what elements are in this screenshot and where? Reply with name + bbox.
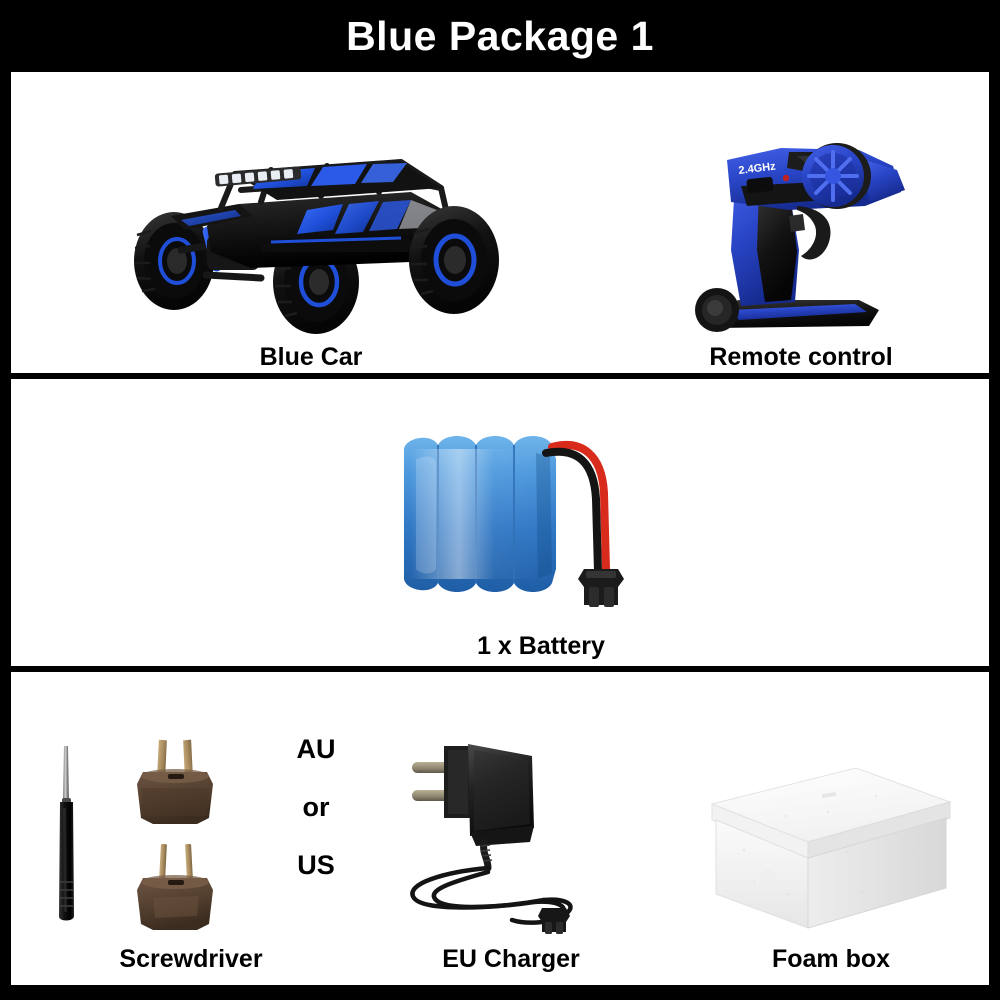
panel-top: Blue Car bbox=[11, 72, 989, 373]
foam-box-icon bbox=[696, 732, 966, 947]
panel-bottom: Screwdriver AU or US bbox=[11, 672, 989, 985]
caption-screwdriver: Screwdriver bbox=[119, 947, 262, 972]
adapter-label-or: or bbox=[283, 792, 349, 823]
item-screwdriver: Screwdriver bbox=[31, 682, 351, 972]
adapter-label-au: AU bbox=[283, 734, 349, 765]
au-plug-adapter bbox=[137, 740, 213, 824]
product-package-image: Blue Package 1 bbox=[0, 0, 1000, 1000]
item-eu-charger: EU Charger bbox=[366, 682, 656, 972]
item-remote-control: 2.4GHz bbox=[631, 80, 971, 370]
rc-car-icon bbox=[111, 130, 511, 345]
battery-pack-icon bbox=[386, 419, 696, 634]
caption-eu-charger: EU Charger bbox=[442, 947, 580, 972]
caption-blue-car: Blue Car bbox=[260, 345, 363, 370]
panel-middle: 1 x Battery bbox=[11, 379, 989, 666]
package-title-bar: Blue Package 1 bbox=[0, 0, 1000, 72]
caption-remote-control: Remote control bbox=[709, 345, 892, 370]
caption-battery: 1 x Battery bbox=[477, 634, 605, 659]
screwdriver-icon bbox=[59, 746, 74, 921]
transmitter-icon: 2.4GHz bbox=[669, 130, 934, 345]
caption-foam-box: Foam box bbox=[772, 947, 890, 972]
sm-connector bbox=[578, 569, 624, 607]
eu-charger-icon bbox=[384, 732, 639, 947]
page-title: Blue Package 1 bbox=[346, 16, 654, 57]
item-foam-box: Foam box bbox=[681, 682, 981, 972]
cable-connector bbox=[538, 908, 570, 934]
adapter-label-us: US bbox=[283, 850, 349, 881]
item-battery: 1 x Battery bbox=[341, 387, 741, 659]
item-blue-car: Blue Car bbox=[91, 80, 531, 370]
us-plug-adapter bbox=[137, 844, 213, 930]
